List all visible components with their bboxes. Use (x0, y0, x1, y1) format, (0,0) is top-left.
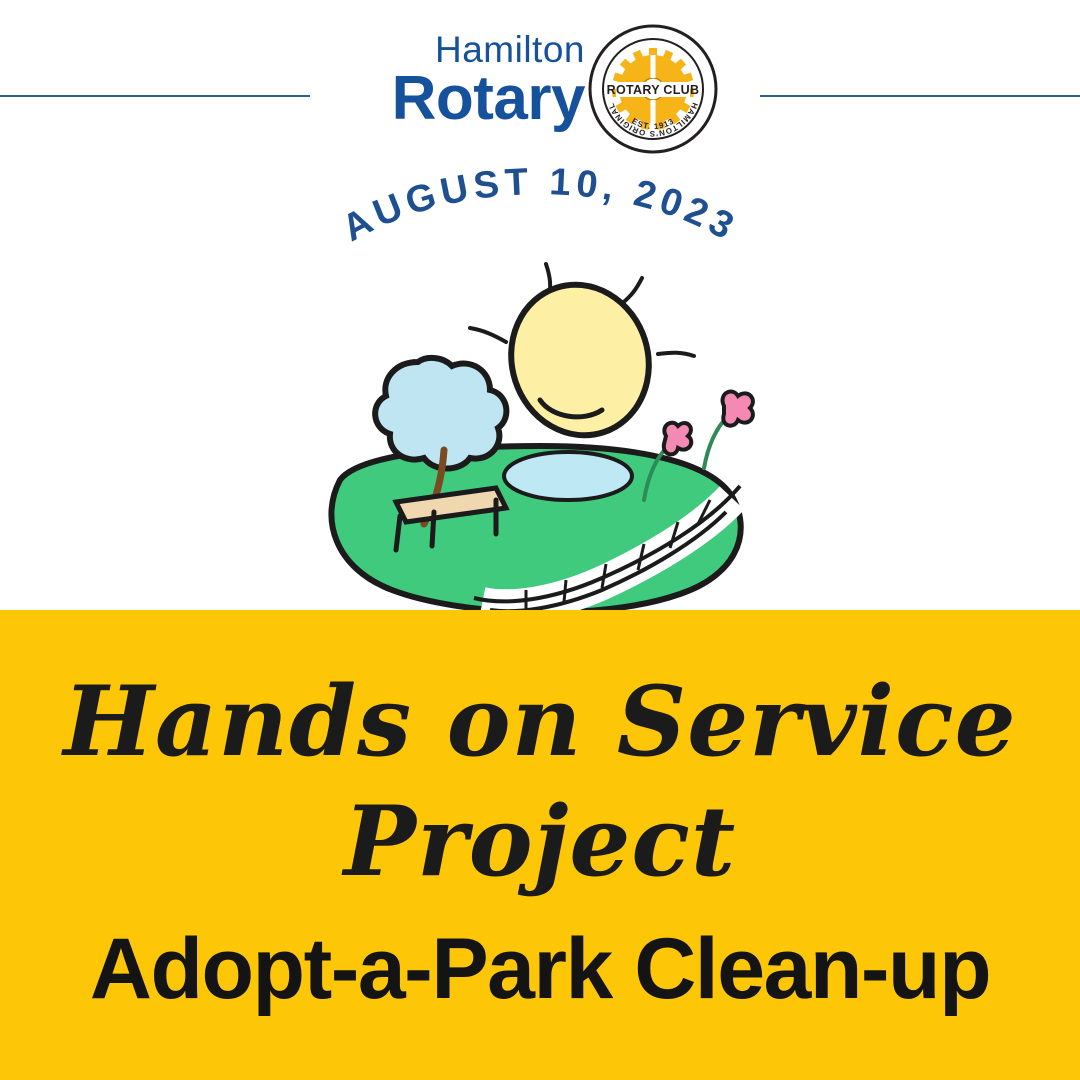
poster: Hamilton Rotary (0, 0, 1080, 1080)
script-line-2: Project (0, 785, 1080, 898)
svg-text:AUGUST 10, 2023: AUGUST 10, 2023 (336, 161, 745, 250)
wordmark-line-rotary: Rotary (370, 68, 585, 130)
event-date-text: AUGUST 10, 2023 (336, 161, 745, 250)
sun-icon (492, 267, 668, 454)
header: Hamilton Rotary (0, 0, 1080, 160)
header-rule-right (760, 95, 1080, 97)
rotary-seal-icon: HAMILTON'S ORIGINAL EST. 1913 ROTARY CLU… (588, 24, 718, 154)
rotary-wordmark: Hamilton Rotary (370, 30, 585, 130)
pond-shape (504, 452, 632, 500)
park-scene-illustration (300, 250, 780, 630)
headline: Adopt-a-Park Clean-up (0, 920, 1080, 1019)
header-rule-left (0, 95, 310, 97)
script-line-1: Hands on Service (0, 665, 1080, 778)
yellow-band: Hands on Service Project Adopt-a-Park Cl… (0, 610, 1080, 1080)
seal-middle-text: ROTARY CLUB (607, 83, 700, 97)
